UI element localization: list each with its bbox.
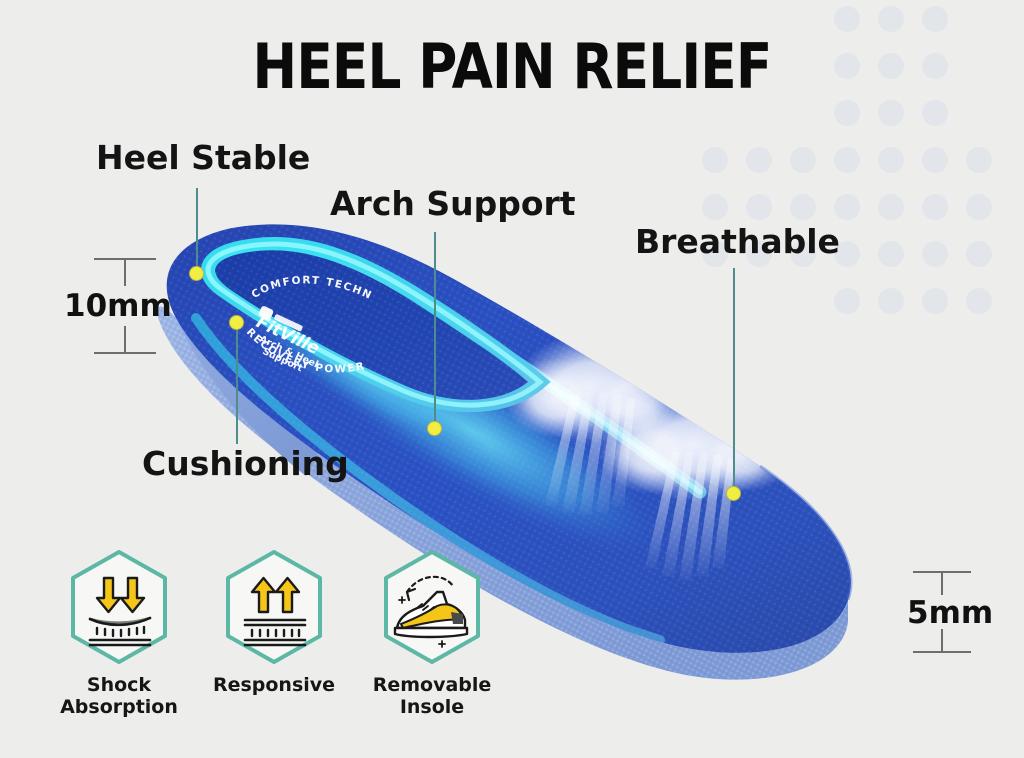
marker-dot-cushioning xyxy=(229,315,244,330)
dimension-stem-bottom xyxy=(941,629,943,651)
leader-line-heel-stable xyxy=(196,188,198,273)
callout-arch-support: Arch Support xyxy=(330,184,576,223)
decorative-dot xyxy=(922,288,948,314)
callout-cushioning: Cushioning xyxy=(142,444,349,483)
callout-breathable: Breathable xyxy=(635,222,840,261)
marker-dot-arch-support xyxy=(427,421,442,436)
decorative-dot xyxy=(834,288,860,314)
feature-label-shock-absorption: Shock Absorption xyxy=(34,674,204,719)
decorative-dot xyxy=(922,6,948,32)
up-arrows-cushion-icon xyxy=(219,548,329,666)
leader-line-breathable xyxy=(733,268,735,493)
decorative-dot xyxy=(922,100,948,126)
decorative-dot xyxy=(834,194,860,220)
decorative-dot xyxy=(790,147,816,173)
svg-text:Support: Support xyxy=(261,346,305,374)
decorative-dot xyxy=(746,147,772,173)
feature-responsive: Responsive xyxy=(189,548,359,696)
decorative-dot xyxy=(878,241,904,267)
decorative-dot xyxy=(966,288,992,314)
decorative-dot xyxy=(922,147,948,173)
decorative-dot xyxy=(922,241,948,267)
feature-removable-insole: Removable Insole xyxy=(347,548,517,719)
dimension-forefoot-height: 5mm xyxy=(905,571,1001,653)
decorative-dot xyxy=(966,147,992,173)
decorative-dot xyxy=(966,194,992,220)
down-arrows-cushion-icon xyxy=(64,548,174,666)
dimension-stem-top xyxy=(124,260,126,286)
feature-shock-absorption: Shock Absorption xyxy=(34,548,204,719)
leader-line-cushioning xyxy=(236,322,238,444)
marker-dot-breathable xyxy=(726,486,741,501)
decorative-dot xyxy=(834,100,860,126)
decorative-dot xyxy=(878,194,904,220)
decorative-dot xyxy=(834,6,860,32)
dimension-label-5mm: 5mm xyxy=(907,595,993,631)
dimension-tick-bottom xyxy=(913,651,971,653)
decorative-dot xyxy=(790,194,816,220)
dimension-stem-top xyxy=(941,573,943,595)
dimension-heel-height: 10mm xyxy=(66,258,174,354)
dimension-label-10mm: 10mm xyxy=(64,288,172,324)
decorative-dot xyxy=(966,241,992,267)
decorative-dot xyxy=(922,194,948,220)
decorative-dot xyxy=(702,194,728,220)
decorative-dot xyxy=(878,288,904,314)
decorative-dot xyxy=(746,194,772,220)
svg-text:RECOVERY POWER: RECOVERY POWER xyxy=(244,326,367,375)
decorative-dot xyxy=(702,147,728,173)
marker-dot-heel-stable xyxy=(189,266,204,281)
leader-line-arch-support xyxy=(434,232,436,428)
decorative-dot xyxy=(878,100,904,126)
svg-text:Arch & Heel: Arch & Heel xyxy=(258,334,320,371)
page-title: HEEL PAIN RELIEF xyxy=(72,36,953,98)
svg-text:FitVille: FitVille xyxy=(253,312,323,359)
callout-heel-stable: Heel Stable xyxy=(96,138,310,177)
infographic-canvas: HEEL PAIN RELIEF xyxy=(0,0,1024,758)
decorative-dot xyxy=(878,147,904,173)
shoe-insole-icon xyxy=(377,548,487,666)
feature-label-removable-insole: Removable Insole xyxy=(347,674,517,719)
dimension-tick-bottom xyxy=(94,352,156,354)
decorative-dot xyxy=(878,6,904,32)
feature-icon-row: Shock Absorption xyxy=(34,548,554,738)
feature-label-responsive: Responsive xyxy=(189,674,359,696)
decorative-dot xyxy=(834,147,860,173)
dimension-stem-bottom xyxy=(124,326,126,352)
